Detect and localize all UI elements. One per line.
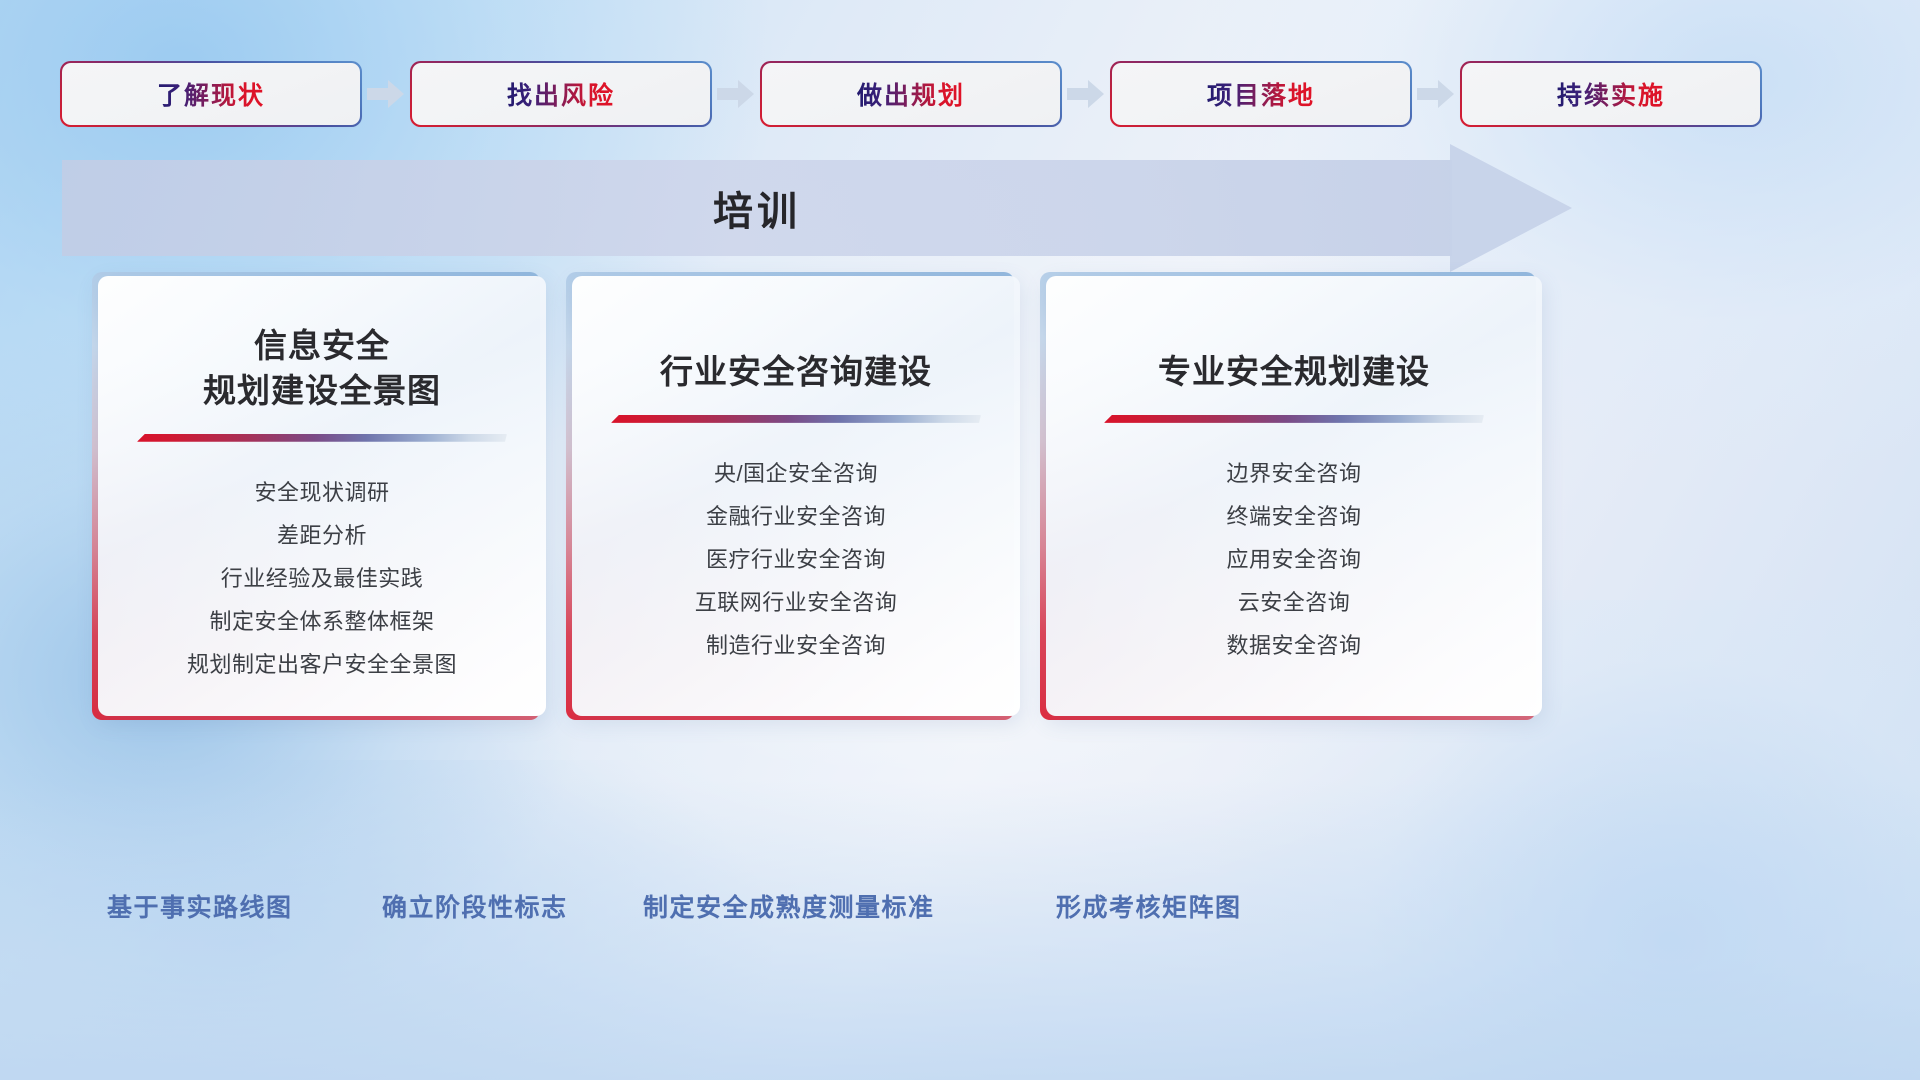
outcome-label-4: 形成考核矩阵图 [1056, 888, 1242, 924]
process-step-flow: 了解现状 找出风险 做出规划 项目落地 持续实施 [62, 63, 1858, 125]
step-box-3[interactable]: 做出规划 [762, 63, 1060, 125]
list-item: 边界安全咨询 [1068, 453, 1520, 496]
outcome-label-1: 基于事实路线图 [107, 888, 293, 924]
arrow-right-icon [360, 63, 412, 125]
training-banner-arrow-head [1450, 144, 1572, 272]
step-label-5: 持续实施 [1557, 76, 1665, 112]
card-item-list: 央/国企安全咨询 金融行业安全咨询 医疗行业安全咨询 互联网行业安全咨询 制造行… [594, 453, 998, 668]
card-title: 信息安全 规划建设全景图 [203, 324, 441, 414]
step-label-2: 找出风险 [507, 76, 615, 112]
card-divider-rule [1104, 415, 1484, 423]
step-box-1[interactable]: 了解现状 [62, 63, 360, 125]
card-divider-rule [611, 415, 981, 423]
card-surface: 行业安全咨询建设 央/国企安全咨询 金融行业安全咨询 医疗行业安全咨询 互联网行… [572, 276, 1020, 716]
capability-card-2[interactable]: 行业安全咨询建设 央/国企安全咨询 金融行业安全咨询 医疗行业安全咨询 互联网行… [566, 272, 1014, 720]
card-surface: 专业安全规划建设 边界安全咨询 终端安全咨询 应用安全咨询 云安全咨询 数据安全… [1046, 276, 1542, 716]
card-item-list: 安全现状调研 差距分析 行业经验及最佳实践 制定安全体系整体框架 规划制定出客户… [120, 472, 524, 687]
arrow-right-icon [1410, 63, 1462, 125]
step-label-1: 了解现状 [157, 76, 265, 112]
outcome-label-2: 确立阶段性标志 [382, 888, 568, 924]
training-banner-title: 培训 [62, 160, 1452, 256]
card-surface: 信息安全 规划建设全景图 安全现状调研 差距分析 行业经验及最佳实践 制定安全体… [98, 276, 546, 716]
capability-card-1[interactable]: 信息安全 规划建设全景图 安全现状调研 差距分析 行业经验及最佳实践 制定安全体… [92, 272, 540, 720]
outcome-label-3: 制定安全成熟度测量标准 [643, 888, 935, 924]
card-title: 专业安全规划建设 [1158, 350, 1430, 395]
list-item: 应用安全咨询 [1068, 539, 1520, 582]
list-item: 安全现状调研 [120, 472, 524, 515]
list-item: 终端安全咨询 [1068, 496, 1520, 539]
list-item: 金融行业安全咨询 [594, 496, 998, 539]
list-item: 行业经验及最佳实践 [120, 558, 524, 601]
step-box-4[interactable]: 项目落地 [1112, 63, 1410, 125]
step-box-2[interactable]: 找出风险 [412, 63, 710, 125]
training-banner: 培训 [62, 160, 1512, 256]
step-box-5[interactable]: 持续实施 [1462, 63, 1760, 125]
list-item: 云安全咨询 [1068, 582, 1520, 625]
arrow-right-icon [710, 63, 762, 125]
list-item: 央/国企安全咨询 [594, 453, 998, 496]
step-label-3: 做出规划 [857, 76, 965, 112]
step-label-4: 项目落地 [1207, 76, 1315, 112]
arrow-right-icon [1060, 63, 1112, 125]
list-item: 互联网行业安全咨询 [594, 582, 998, 625]
card-title: 行业安全咨询建设 [660, 350, 932, 395]
list-item: 医疗行业安全咨询 [594, 539, 998, 582]
list-item: 差距分析 [120, 515, 524, 558]
list-item: 规划制定出客户安全全景图 [120, 644, 524, 687]
outcome-label-row: 基于事实路线图 确立阶段性标志 制定安全成熟度测量标准 形成考核矩阵图 [0, 888, 1920, 958]
capability-card-group: 信息安全 规划建设全景图 安全现状调研 差距分析 行业经验及最佳实践 制定安全体… [92, 272, 1832, 720]
card-divider-rule [137, 434, 507, 442]
list-item: 数据安全咨询 [1068, 625, 1520, 668]
capability-card-3[interactable]: 专业安全规划建设 边界安全咨询 终端安全咨询 应用安全咨询 云安全咨询 数据安全… [1040, 272, 1488, 720]
list-item: 制造行业安全咨询 [594, 625, 998, 668]
list-item: 制定安全体系整体框架 [120, 601, 524, 644]
card-item-list: 边界安全咨询 终端安全咨询 应用安全咨询 云安全咨询 数据安全咨询 [1068, 453, 1520, 668]
